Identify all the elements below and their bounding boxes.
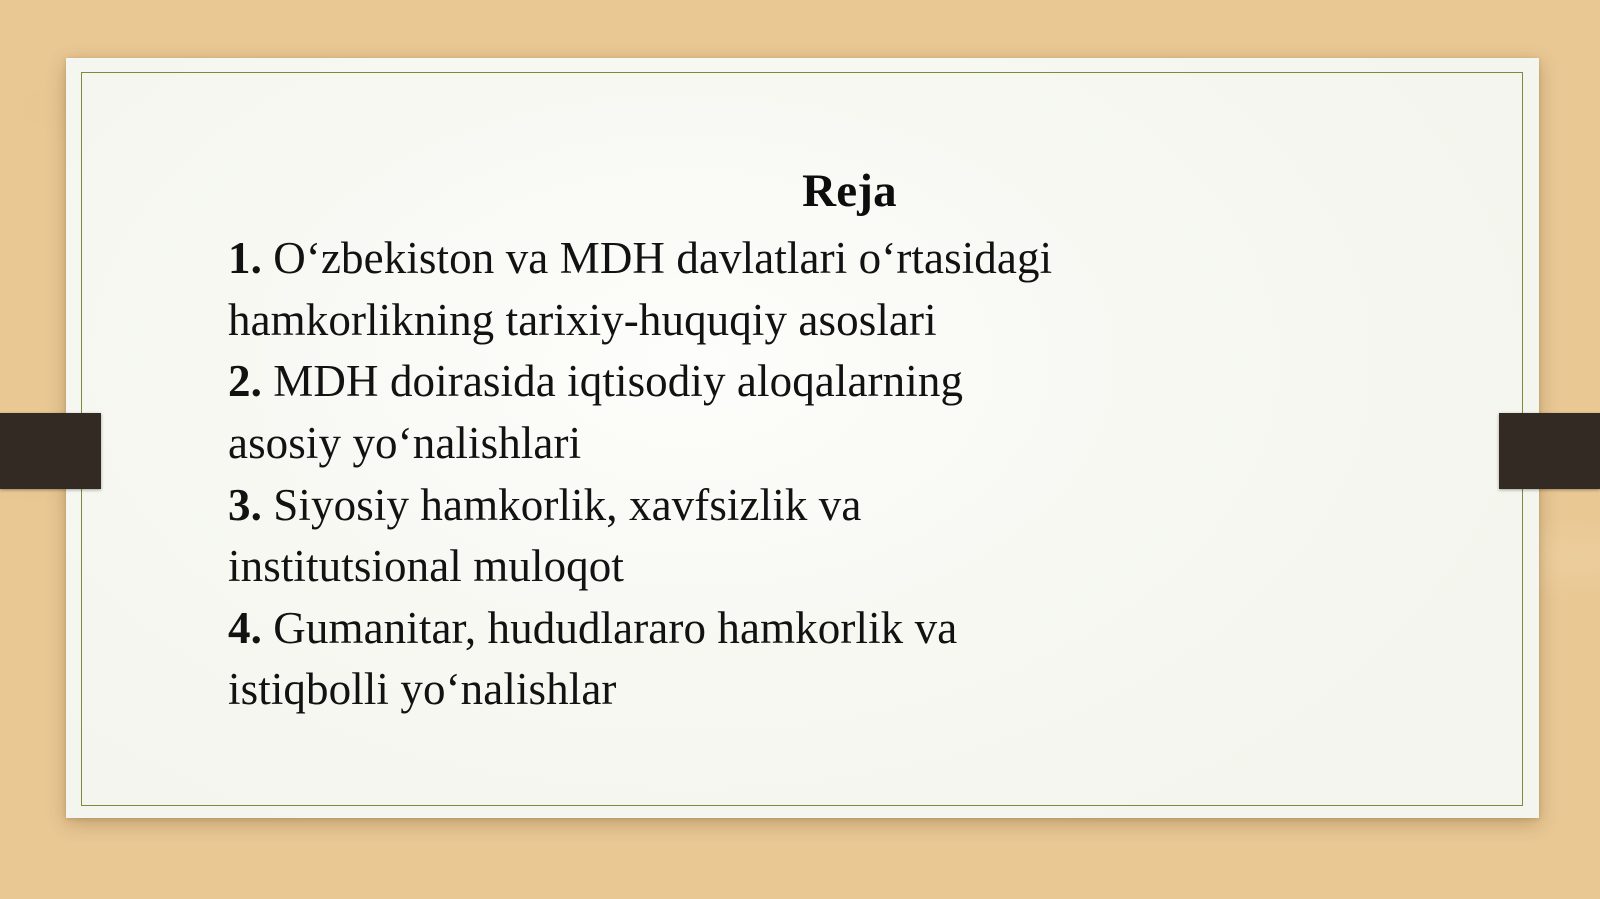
right-side-tab bbox=[1499, 413, 1600, 489]
slide-title: Reja bbox=[228, 168, 1471, 215]
plan-item-3-number: 3. bbox=[228, 480, 262, 530]
plan-item-2-number: 2. bbox=[228, 356, 262, 406]
plan-item-3-text: Siyosiy hamkorlik, xavfsizlik va institu… bbox=[228, 480, 861, 592]
plan-item-4: 4. Gumanitar, hududlararo hamkorlik va i… bbox=[228, 598, 1499, 721]
plan-item-1: 1. Oʻzbekiston va MDH davlatlari oʻrtasi… bbox=[228, 228, 1499, 351]
slide-text-block: Reja 1. Oʻzbekiston va MDH davlatlari oʻ… bbox=[228, 168, 1499, 788]
plan-item-2-text: MDH doirasida iqtisodiy aloqalarning aso… bbox=[228, 356, 963, 468]
plan-list: 1. Oʻzbekiston va MDH davlatlari oʻrtasi… bbox=[228, 228, 1499, 721]
plan-item-4-text: Gumanitar, hududlararo hamkorlik va isti… bbox=[228, 603, 957, 715]
plan-item-1-number: 1. bbox=[228, 233, 262, 283]
left-side-tab bbox=[0, 413, 101, 489]
plan-item-3: 3. Siyosiy hamkorlik, xavfsizlik va inst… bbox=[228, 475, 1499, 598]
plan-item-2: 2. MDH doirasida iqtisodiy aloqalarning … bbox=[228, 351, 1499, 474]
plan-item-4-number: 4. bbox=[228, 603, 262, 653]
content-card: Reja 1. Oʻzbekiston va MDH davlatlari oʻ… bbox=[66, 58, 1539, 818]
plan-item-1-text: Oʻzbekiston va MDH davlatlari oʻrtasidag… bbox=[228, 233, 1052, 345]
